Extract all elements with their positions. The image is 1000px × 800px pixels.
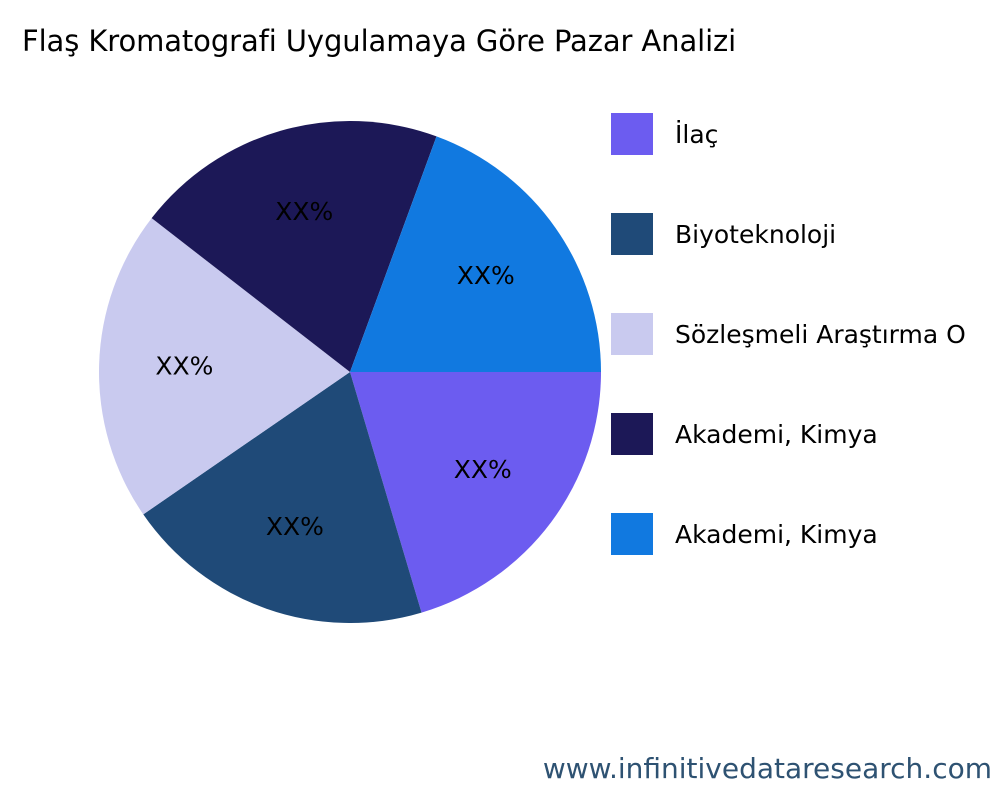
pie-chart-plot-area: XX%XX%XX%XX%XX%	[99, 121, 601, 623]
legend-color-swatch-icon	[611, 313, 653, 355]
footer-website-url: www.infinitivedataresearch.com	[543, 752, 992, 785]
legend-item[interactable]: İlaç	[611, 112, 718, 156]
legend-color-swatch-icon	[611, 213, 653, 255]
pie-chart-figure: Flaş Kromatografi Uygulamaya Göre Pazar …	[0, 0, 1000, 800]
legend-color-swatch-icon	[611, 413, 653, 455]
pie-slice-percent-label: XX%	[454, 455, 512, 484]
pie-slice-percent-label: XX%	[275, 197, 333, 226]
pie-svg: XX%XX%XX%XX%XX%	[99, 121, 601, 623]
legend-color-swatch-icon	[611, 113, 653, 155]
legend-item[interactable]: Akademi, Kimya	[611, 412, 878, 456]
legend-color-swatch-icon	[611, 513, 653, 555]
legend-item-label: Sözleşmeli Araştırma O	[675, 320, 966, 349]
pie-slice-percent-label: XX%	[155, 351, 213, 380]
page-title: Flaş Kromatografi Uygulamaya Göre Pazar …	[22, 24, 736, 58]
legend-item[interactable]: Sözleşmeli Araştırma O	[611, 312, 966, 356]
chart-legend: İlaçBiyoteknolojiSözleşmeli Araştırma OA…	[611, 112, 1000, 582]
legend-item-label: Biyoteknoloji	[675, 220, 836, 249]
legend-item-label: İlaç	[675, 120, 718, 149]
legend-item[interactable]: Biyoteknoloji	[611, 212, 836, 256]
pie-slice-percent-label: XX%	[266, 512, 324, 541]
pie-slice-percent-label: XX%	[457, 261, 515, 290]
legend-item-label: Akademi, Kimya	[675, 420, 878, 449]
legend-item[interactable]: Akademi, Kimya	[611, 512, 878, 556]
legend-item-label: Akademi, Kimya	[675, 520, 878, 549]
